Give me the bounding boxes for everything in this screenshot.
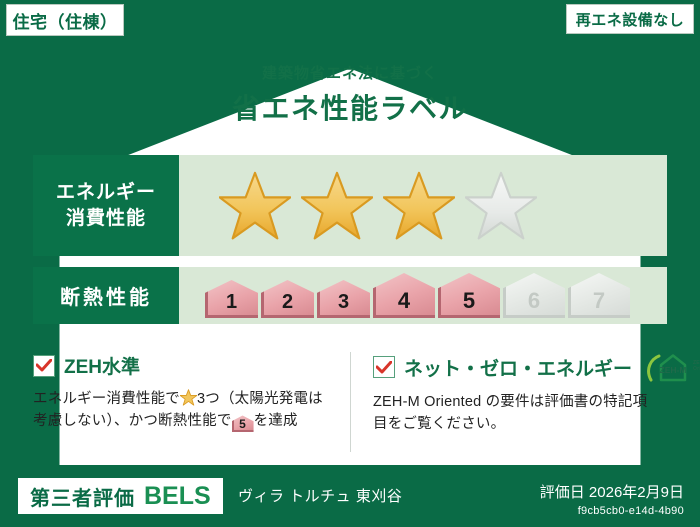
star-icon-filled-2 [301,171,373,241]
insulation-grade-7: 7 [568,273,630,318]
building-name: ヴィラ トルチュ 東刈谷 [238,485,402,506]
energy-performance-label-box: エネルギー 消費性能 [33,155,179,256]
title-subtitle: 建築物省エネ法に基づく [0,62,700,83]
energy-label-line1: エネルギー [56,180,156,206]
insulation-grade-5: 5 [438,273,500,318]
inline-grade-value: 5 [239,417,246,431]
energy-label-line2: 消費性能 [66,206,146,232]
criterion-zeh-text: エネルギー消費性能で3つ（太陽光発電は考慮しない）、かつ断熱性能で5を達成 [33,388,336,433]
energy-rating-body [179,155,667,256]
criterion-net-zero-energy: ネット・ゼロ・エネルギー ZEH-M ZEH-M Oriented ZEH-M … [350,352,667,452]
insulation-performance-row: 断熱性能 1 2 3 4 5 6 7 [33,267,667,324]
badge-building-type: 住宅（住棟） [6,4,124,36]
insulation-grade-scale: 1 2 3 4 5 6 7 [179,273,630,318]
insulation-grade-1: 1 [205,280,258,318]
energy-performance-row: エネルギー 消費性能 [33,155,667,256]
zeh-m-house-icon: ZEH-M [646,352,690,382]
title-block: 建築物省エネ法に基づく 省エネ性能ラベル [0,62,700,127]
insulation-grade-6: 6 [503,273,565,318]
evaluation-id: f9cb5cb0-e14d-4b90 [540,505,684,517]
inline-grade-badge: 5 [232,415,254,432]
star-rating [179,171,537,241]
criteria-section: ZEH水準 エネルギー消費性能で3つ（太陽光発電は考慮しない）、かつ断熱性能で5… [33,352,667,452]
footer-meta: 評価日 2026年2月9日 f9cb5cb0-e14d-4b90 [540,481,684,517]
star-icon-empty-4 [465,171,537,241]
zeh-m-logo-caption: ZEH-M Oriented [693,361,700,373]
insulation-grade-2-value: 2 [282,291,293,314]
criterion-zeh-title: ZEH水準 [64,352,140,379]
checkbox-zeh[interactable] [33,355,55,377]
badge-renewable-equipment: 再エネ設備なし [566,4,694,34]
criterion-nze-title: ネット・ゼロ・エネルギー [404,354,632,381]
insulation-performance-label-box: 断熱性能 [33,267,179,324]
check-icon [376,361,392,374]
checkbox-net-zero-energy[interactable] [373,356,395,378]
insulation-grade-2: 2 [261,280,314,318]
insulation-grade-3: 3 [317,280,370,318]
criterion-zeh-text-c: を達成 [254,413,298,429]
insulation-grade-5-value: 5 [463,288,475,314]
bels-badge-en-label: BELS [144,482,211,511]
criterion-zeh-text-a: エネルギー消費性能で [33,391,180,407]
page-title: 省エネ性能ラベル [0,87,700,127]
star-icon-filled-1 [219,171,291,241]
criterion-nze-text: ZEH-M Oriented の要件は評価書の特記項目をご覧ください。 [373,391,653,436]
bels-badge-jp-label: 第三者評価 [30,482,135,511]
insulation-grade-6-value: 6 [528,288,540,314]
criterion-nze-header: ネット・ゼロ・エネルギー ZEH-M ZEH-M Oriented [373,352,653,382]
insulation-grade-7-value: 7 [593,288,605,314]
bels-badge: 第三者評価 BELS [18,478,223,514]
insulation-grade-1-value: 1 [226,291,237,314]
check-icon [36,359,52,372]
insulation-grade-4-value: 4 [398,288,410,314]
star-icon-inline [180,389,197,406]
insulation-grade-3-value: 3 [338,291,349,314]
star-icon-filled-3 [383,171,455,241]
evaluation-date: 評価日 2026年2月9日 [540,481,684,502]
insulation-rating-body: 1 2 3 4 5 6 7 [179,267,667,324]
criterion-zeh: ZEH水準 エネルギー消費性能で3つ（太陽光発電は考慮しない）、かつ断熱性能で5… [33,352,350,452]
insulation-grade-4: 4 [373,273,435,318]
zeh-m-logo: ZEH-M ZEH-M Oriented [646,352,700,382]
energy-performance-label: 住宅（住棟） 再エネ設備なし 建築物省エネ法に基づく 省エネ性能ラベル エネルギ… [0,0,700,527]
zeh-m-caption-line2: Oriented [693,366,700,372]
zeh-m-logo-text: ZEH-M [660,365,687,375]
criterion-zeh-header: ZEH水準 [33,352,336,379]
